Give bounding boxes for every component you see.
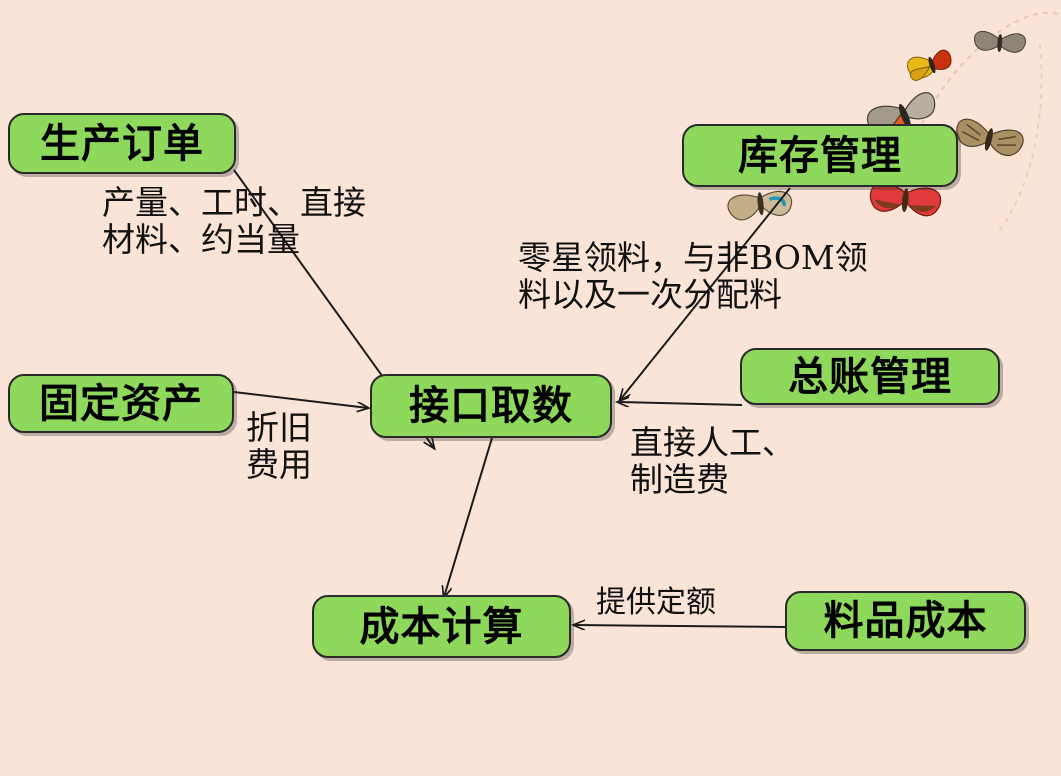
edge-label-item-cost-to-cost-calc: 提供定额 xyxy=(596,586,816,620)
node-label-production-order: 生产订单 xyxy=(40,124,204,164)
node-fixed-assets[interactable]: 固定资产 xyxy=(8,374,234,433)
edge-label-production-order-to-interface: 产量、工时、直接 材料、约当量 xyxy=(102,185,462,259)
arrow-interface-to-cost-calc xyxy=(444,438,492,597)
edge-label-gl-to-interface: 直接人工、 制造费 xyxy=(630,425,860,499)
diagram-canvas: 生产订单 库存管理 固定资产 接口取数 总账管理 成本计算 料品成本 产量、工时… xyxy=(0,0,1061,776)
arrow-item-cost-to-cost-calc xyxy=(574,625,786,627)
node-item-cost[interactable]: 料品成本 xyxy=(785,591,1026,651)
arrow-fixed-assets-to-interface xyxy=(234,392,368,408)
butterfly-icon-yellow xyxy=(905,47,954,82)
edge-label-inventory-to-interface: 零星领料，与非BOM领 料以及一次分配料 xyxy=(518,240,988,314)
node-cost-calculation[interactable]: 成本计算 xyxy=(312,595,571,658)
node-general-ledger-management[interactable]: 总账管理 xyxy=(740,348,1000,405)
node-label-cost-calculation: 成本计算 xyxy=(360,607,524,647)
butterfly-icon-grey xyxy=(974,31,1026,54)
arrow-gl-to-interface xyxy=(618,402,742,405)
butterfly-icon-striped xyxy=(953,117,1025,159)
node-label-fixed-assets: 固定资产 xyxy=(39,384,203,424)
butterfly-icon-red xyxy=(869,182,942,217)
node-interface-fetch[interactable]: 接口取数 xyxy=(370,374,612,438)
node-label-inventory-management: 库存管理 xyxy=(738,136,902,176)
edge-label-fixed-assets-to-interface: 折旧 费用 xyxy=(246,410,366,484)
node-label-item-cost: 料品成本 xyxy=(824,601,988,641)
node-label-general-ledger-management: 总账管理 xyxy=(788,357,952,397)
node-inventory-management[interactable]: 库存管理 xyxy=(682,124,958,187)
butterfly-icon-tan xyxy=(727,189,793,221)
node-production-order[interactable]: 生产订单 xyxy=(8,113,236,174)
node-label-interface-fetch: 接口取数 xyxy=(409,386,573,426)
butterfly-trail-path-2 xyxy=(1000,45,1042,230)
